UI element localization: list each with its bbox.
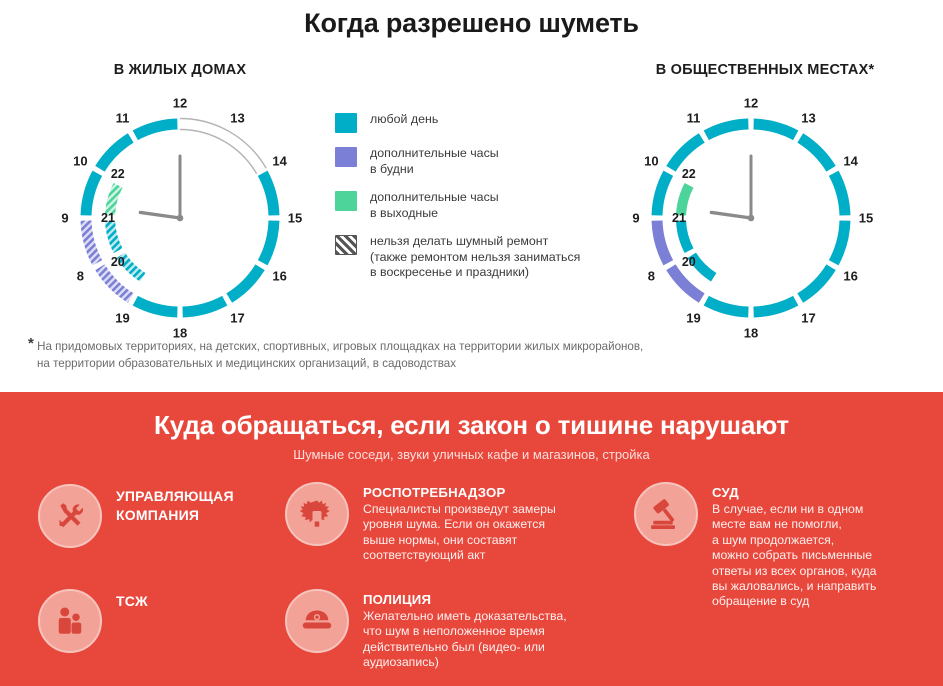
- clock-hour-label-11: 11: [116, 111, 130, 126]
- clock-segment-outer: [86, 173, 97, 215]
- clock-hour-label-19: 19: [115, 310, 129, 325]
- legend-color-swatch: [335, 147, 357, 167]
- clock-segment-outer: [183, 301, 225, 312]
- clock-hour-label-14: 14: [272, 153, 286, 168]
- legend-item-label: дополнительные часыв выходные: [370, 190, 499, 221]
- tools-icon: [52, 498, 88, 534]
- clock-hour-label-14: 14: [843, 153, 857, 168]
- clock-segment-outer: [834, 173, 845, 215]
- clock-hour-label-13: 13: [230, 111, 244, 126]
- authority-card-text: ТСЖ: [116, 589, 148, 612]
- authority-card-heading: РОСПОТРЕБНАДЗОР: [363, 485, 556, 501]
- legend-color-swatch: [335, 113, 357, 133]
- red-panel: Куда обращаться, если закон о тишине нар…: [0, 392, 943, 686]
- authority-card-people[interactable]: ТСЖ: [38, 589, 288, 653]
- clock-segment-outer: [657, 173, 668, 215]
- clock-hand-hour: [711, 212, 751, 218]
- authority-card-body: Желательно иметь доказательства,что шум …: [363, 609, 567, 671]
- eagle-icon: [299, 496, 335, 532]
- clock-hub: [748, 215, 755, 222]
- clock-segment-empty: [230, 132, 266, 168]
- clock-hour-label-10: 10: [73, 153, 87, 168]
- clock-segment-inner-tint: [110, 221, 118, 251]
- clock-hand-hour: [140, 212, 180, 218]
- clock-segment-outer: [263, 221, 274, 263]
- authority-card-gavel[interactable]: СУДВ случае, если ни в одномместе вам не…: [634, 482, 934, 610]
- eagle-icon-circle: [285, 482, 349, 546]
- authority-card-heading: ПОЛИЦИЯ: [363, 592, 567, 608]
- authority-card-body: Специалисты произведут замерыуровня шума…: [363, 502, 556, 564]
- clock-hour-label-22: 22: [682, 167, 696, 181]
- clock-hour-label-13: 13: [801, 111, 815, 126]
- clock-segment-outer: [135, 124, 177, 135]
- footnote-line-2: на территории образовательных и медицинс…: [37, 356, 456, 373]
- clock-hour-label-22: 22: [111, 167, 125, 181]
- clock-segment-outer: [263, 173, 274, 215]
- red-panel-subtitle: Шумные соседи, звуки уличных кафе и мага…: [0, 447, 943, 462]
- authority-card-police-cap[interactable]: ПОЛИЦИЯЖелательно иметь доказательства,ч…: [285, 589, 615, 671]
- authority-cards: УПРАВЛЯЮЩАЯКОМПАНИЯ ТСЖ РОСПОТРЕБНАДЗОРС…: [0, 484, 943, 684]
- clock-hour-label-20: 20: [111, 255, 125, 269]
- authority-card-text: УПРАВЛЯЮЩАЯКОМПАНИЯ: [116, 484, 234, 526]
- legend-item-3: нельзя делать шумный ремонт(также ремонт…: [335, 234, 610, 281]
- footnote-asterisk: *: [28, 335, 34, 352]
- clock-hour-label-20: 20: [682, 255, 696, 269]
- clock-segment-outer: [800, 267, 831, 298]
- clock-residential: 8910111213141516171819202122: [65, 103, 295, 333]
- infographic-page: Когда разрешено шуметь В ЖИЛЫХ ДОМАХ В О…: [0, 0, 943, 686]
- clock-hour-label-11: 11: [687, 111, 701, 126]
- clock-hour-label-21: 21: [101, 211, 115, 225]
- clock-hour-label-9: 9: [61, 211, 68, 226]
- clock-segment-outer-tint: [100, 267, 131, 298]
- tools-icon-circle: [38, 484, 102, 548]
- legend-item-label: дополнительные часыв будни: [370, 146, 499, 177]
- authority-card-heading: УПРАВЛЯЮЩАЯКОМПАНИЯ: [116, 487, 234, 525]
- authority-card-text: СУДВ случае, если ни в одномместе вам не…: [712, 482, 877, 610]
- clock-segment-outer: [706, 124, 748, 135]
- clock-segment-outer: [671, 267, 702, 298]
- clock-segment-outer: [754, 301, 796, 312]
- clock-hour-label-8: 8: [77, 268, 84, 283]
- clock-hour-label-19: 19: [686, 310, 700, 325]
- clock-hour-label-16: 16: [272, 268, 286, 283]
- clock-segment-outer: [135, 301, 177, 312]
- clock-public: 8910111213141516171819202122: [636, 103, 866, 333]
- gavel-icon-circle: [634, 482, 698, 546]
- authority-card-heading: СУД: [712, 485, 877, 501]
- legend-item-label: любой день: [370, 112, 438, 128]
- footnote: * На придомовых территориях, на детских,…: [28, 339, 908, 372]
- clock-hour-label-17: 17: [230, 310, 244, 325]
- legend-item-label: нельзя делать шумный ремонт(также ремонт…: [370, 234, 580, 281]
- clock-heading-left: В ЖИЛЫХ ДОМАХ: [0, 62, 360, 78]
- authority-card-eagle[interactable]: РОСПОТРЕБНАДЗОРСпециалисты произведут за…: [285, 482, 615, 564]
- legend-hatch-swatch: [335, 235, 357, 255]
- clock-hour-label-17: 17: [801, 310, 815, 325]
- clock-segment-empty: [180, 130, 224, 142]
- legend-color-swatch: [335, 191, 357, 211]
- clock-hour-label-12: 12: [744, 96, 758, 111]
- page-title: Когда разрешено шуметь: [0, 8, 943, 39]
- clock-hour-label-16: 16: [843, 268, 857, 283]
- clock-segment-outer: [100, 138, 131, 169]
- gavel-icon: [648, 496, 684, 532]
- clock-segment-outer-tint: [86, 221, 97, 263]
- clock-hour-label-15: 15: [859, 211, 873, 226]
- legend-item-0: любой день: [335, 112, 610, 133]
- people-icon-circle: [38, 589, 102, 653]
- clock-segment-empty: [224, 141, 256, 173]
- clock-segment-outer: [229, 267, 260, 298]
- clock-segment-outer: [800, 138, 831, 169]
- clock-hour-label-9: 9: [632, 211, 639, 226]
- clock-hour-label-8: 8: [648, 268, 655, 283]
- clock-segment-outer: [671, 138, 702, 169]
- clock-hour-label-21: 21: [672, 211, 686, 225]
- authority-card-text: РОСПОТРЕБНАДЗОРСпециалисты произведут за…: [363, 482, 556, 564]
- legend-item-2: дополнительные часыв выходные: [335, 190, 610, 221]
- clock-hour-label-15: 15: [288, 211, 302, 226]
- legend: любой деньдополнительные часыв буднидопо…: [335, 112, 610, 294]
- legend-item-1: дополнительные часыв будни: [335, 146, 610, 177]
- people-icon: [52, 603, 88, 639]
- authority-card-text: ПОЛИЦИЯЖелательно иметь доказательства,ч…: [363, 589, 567, 671]
- clock-hub: [177, 215, 184, 222]
- police-cap-icon-circle: [285, 589, 349, 653]
- clock-heading-right: В ОБЩЕСТВЕННЫХ МЕСТАХ*: [600, 62, 930, 78]
- clock-segment-inner: [681, 221, 689, 251]
- clock-hour-label-10: 10: [644, 153, 658, 168]
- clock-segment-outer: [657, 221, 668, 263]
- clock-segment-outer: [754, 124, 796, 135]
- clock-segment-outer: [706, 301, 748, 312]
- authority-card-heading: ТСЖ: [116, 592, 148, 611]
- authority-card-tools[interactable]: УПРАВЛЯЮЩАЯКОМПАНИЯ: [38, 484, 288, 548]
- clock-hour-label-12: 12: [173, 96, 187, 111]
- red-panel-title: Куда обращаться, если закон о тишине нар…: [0, 410, 943, 441]
- police-cap-icon: [299, 603, 335, 639]
- footnote-line-1: На придомовых территориях, на детских, с…: [37, 340, 643, 353]
- authority-card-body: В случае, если ни в одномместе вам не по…: [712, 502, 877, 610]
- clock-segment-outer: [834, 221, 845, 263]
